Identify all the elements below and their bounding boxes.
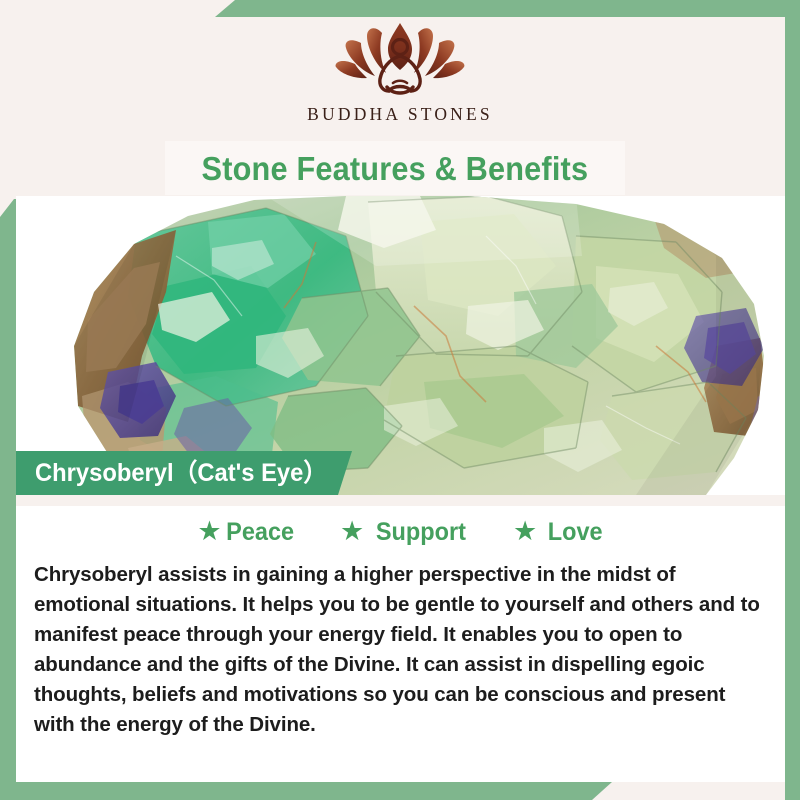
- stone-photo-image: [16, 196, 786, 495]
- benefit-item-love: ★ Love: [513, 519, 605, 546]
- brand-name: BUDDHA STONES: [307, 104, 493, 125]
- lotus-meditation-figure-icon: [325, 17, 475, 102]
- stone-name-banner: Chrysoberyl（Cat's Eye）: [16, 451, 352, 495]
- benefit-label: Peace: [226, 520, 294, 545]
- stone-photo: [16, 196, 786, 495]
- frame-bar-left: [0, 199, 16, 800]
- page-title: Stone Features & Benefits: [202, 152, 589, 185]
- brand-logo: BUDDHA STONES: [0, 17, 800, 125]
- benefit-item-peace: ★ Peace: [197, 519, 296, 546]
- title-banner: Stone Features & Benefits: [165, 141, 625, 195]
- star-icon: ★: [340, 518, 364, 545]
- star-icon: ★: [197, 518, 221, 545]
- star-icon: ★: [513, 518, 537, 545]
- header-section: BUDDHA STONES Stone Features & Benefits: [0, 0, 800, 196]
- stone-name: Chrysoberyl（Cat's Eye）: [35, 461, 327, 486]
- benefits-row: ★ Peace ★ Support ★ Love: [16, 514, 786, 550]
- stone-description: Chrysoberyl assists in gaining a higher …: [34, 560, 760, 740]
- infographic-card: BUDDHA STONES Stone Features & Benefits: [0, 0, 800, 800]
- frame-bar-bottom: [0, 782, 612, 800]
- divider-strip: [16, 495, 786, 506]
- benefit-label: Love: [548, 520, 603, 545]
- frame-bar-right: [785, 0, 800, 800]
- benefit-item-support: ★ Support: [340, 519, 469, 546]
- benefit-label: Support: [376, 520, 466, 545]
- frame-bar-top: [215, 0, 800, 17]
